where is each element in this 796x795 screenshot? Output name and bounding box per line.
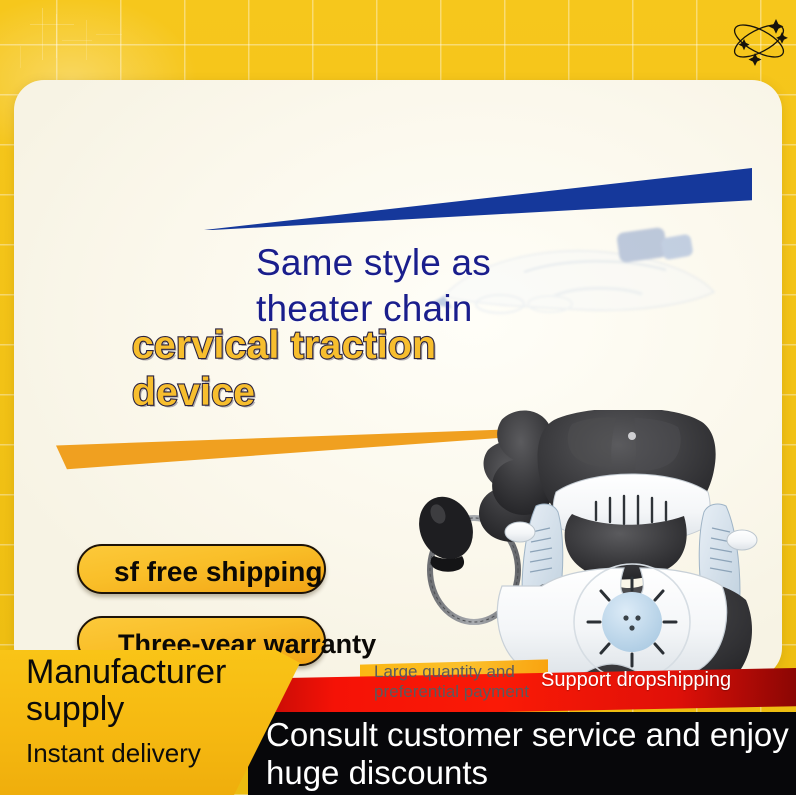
manufacturer-line2: supply (26, 691, 288, 728)
consult-line2: huge discounts (266, 754, 794, 792)
badge-sf-free-shipping-label: sf free shipping (114, 558, 322, 586)
large-quantity-line1: Large quantity and (374, 662, 515, 681)
content-card: Same style as theater chain cervical tra… (14, 80, 782, 678)
background-scratch (42, 8, 43, 60)
background-scratch (62, 40, 92, 41)
headline-blue-line1: Same style as (256, 242, 491, 283)
orbit-sparkle-icon (728, 12, 790, 70)
background-scratch (56, 14, 57, 58)
headline-blue: Same style as theater chain (256, 240, 726, 332)
cervical-traction-device-image (404, 410, 782, 678)
background-scratch (96, 34, 122, 35)
manufacturer-line1: Manufacturer (26, 653, 226, 691)
background-scratch (20, 46, 21, 68)
headline-gold: cervical traction device (132, 323, 692, 417)
large-quantity-text: Large quantity and preferential payment (374, 662, 544, 702)
support-dropshipping-text: Support dropshipping (541, 669, 731, 692)
product-advertisement-poster: Same style as theater chain cervical tra… (0, 0, 796, 795)
background-scratch (86, 20, 87, 60)
manufacturer-supply-text: Manufacturer supply (26, 654, 288, 729)
instant-delivery-text: Instant delivery (26, 738, 201, 769)
consult-line1: Consult customer service and enjoy (266, 716, 789, 753)
background-scratch (30, 24, 74, 25)
consult-customer-service-text: Consult customer service and enjoy huge … (266, 716, 794, 791)
headline-gold-line1: cervical traction (132, 324, 436, 367)
large-quantity-line2: preferential payment (374, 682, 544, 702)
